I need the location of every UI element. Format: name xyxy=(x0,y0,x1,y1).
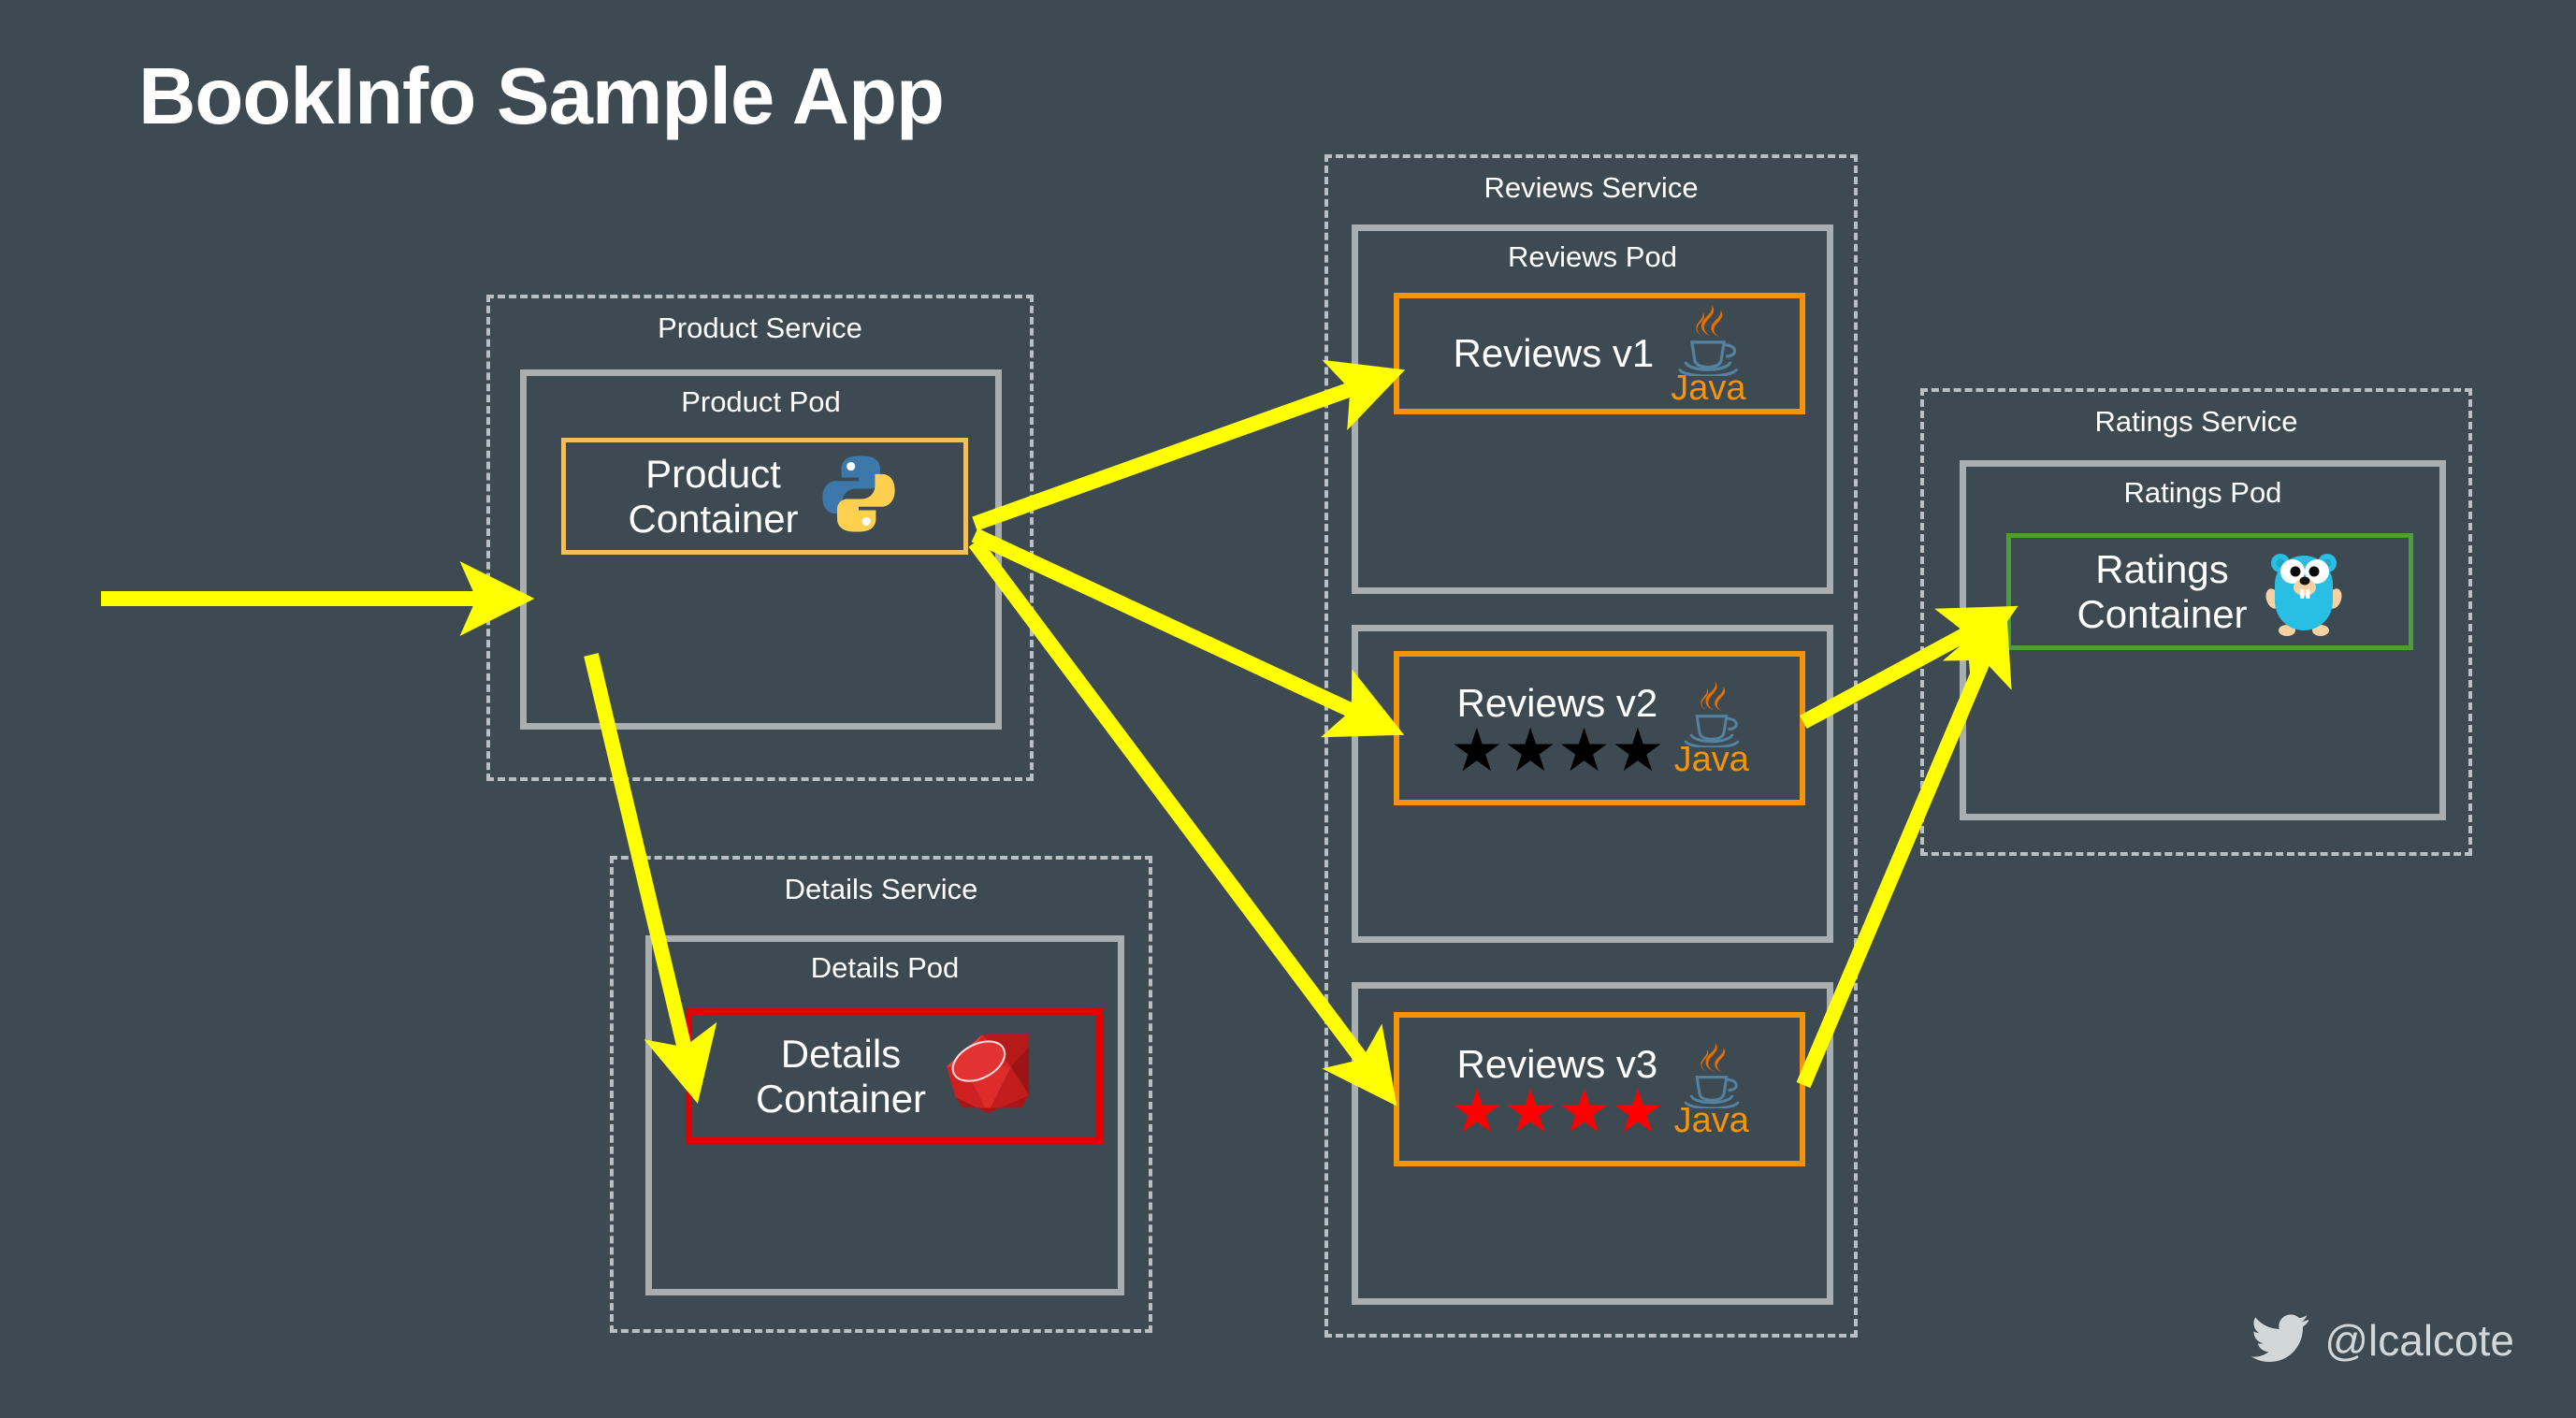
container-label-product: Product Container xyxy=(628,452,798,540)
pod-label-ratings: Ratings Pod xyxy=(1966,476,2439,510)
container-box-reviews-v1[interactable]: Reviews v1 Java xyxy=(1394,293,1805,414)
arrow-product-to-reviews-v1 xyxy=(975,378,1382,524)
service-label-reviews: Reviews Service xyxy=(1328,171,1854,205)
rating-stars-v3: ★ ★ ★ ★ xyxy=(1450,1086,1665,1136)
twitter-handle-text: @lcalcote xyxy=(2324,1315,2514,1366)
container-label-reviews-v1: Reviews v1 xyxy=(1453,331,1654,375)
java-word-label: Java xyxy=(1671,372,1745,404)
rating-stars-v2: ★ ★ ★ ★ xyxy=(1450,725,1665,775)
star-icon: ★ xyxy=(1557,1086,1611,1136)
page-title: BookInfo Sample App xyxy=(138,51,944,143)
arrow-product-to-reviews-v2 xyxy=(975,535,1382,725)
twitter-bird-icon xyxy=(2251,1313,2309,1367)
container-label-details: Details Container xyxy=(756,1032,926,1120)
star-icon: ★ xyxy=(1557,725,1611,775)
service-label-ratings: Ratings Service xyxy=(1924,405,2468,439)
container-box-reviews-v2[interactable]: Reviews v2 ★ ★ ★ ★ Java xyxy=(1394,651,1805,805)
java-logo: Java xyxy=(1674,680,1749,775)
container-label-ratings: Ratings Container xyxy=(2077,547,2247,635)
star-icon: ★ xyxy=(1611,725,1664,775)
python-logo xyxy=(816,451,902,542)
diagram-canvas: BookInfo Sample App Product Service Prod… xyxy=(0,0,2576,1418)
go-gopher-logo xyxy=(2265,543,2343,641)
star-icon: ★ xyxy=(1503,725,1556,775)
star-icon: ★ xyxy=(1611,1086,1664,1136)
pod-label-product: Product Pod xyxy=(527,385,995,419)
service-label-product: Product Service xyxy=(490,311,1030,345)
ruby-logo xyxy=(943,1031,1033,1121)
pod-label-details: Details Pod xyxy=(652,951,1118,985)
twitter-handle[interactable]: @lcalcote xyxy=(2251,1313,2514,1367)
java-logo: Java xyxy=(1674,1041,1749,1136)
service-label-details: Details Service xyxy=(614,873,1149,906)
java-logo: Java xyxy=(1671,303,1745,404)
star-icon: ★ xyxy=(1450,725,1503,775)
container-box-product[interactable]: Product Container xyxy=(561,438,968,555)
pod-label-reviews: Reviews Pod xyxy=(1358,240,1827,274)
container-box-details[interactable]: Details Container xyxy=(686,1008,1103,1144)
container-box-ratings[interactable]: Ratings Container xyxy=(2006,533,2413,650)
java-word-label: Java xyxy=(1674,744,1749,775)
container-box-reviews-v3[interactable]: Reviews v3 ★ ★ ★ ★ Java xyxy=(1394,1012,1805,1166)
star-icon: ★ xyxy=(1503,1086,1556,1136)
java-word-label: Java xyxy=(1674,1105,1749,1136)
star-icon: ★ xyxy=(1450,1086,1503,1136)
